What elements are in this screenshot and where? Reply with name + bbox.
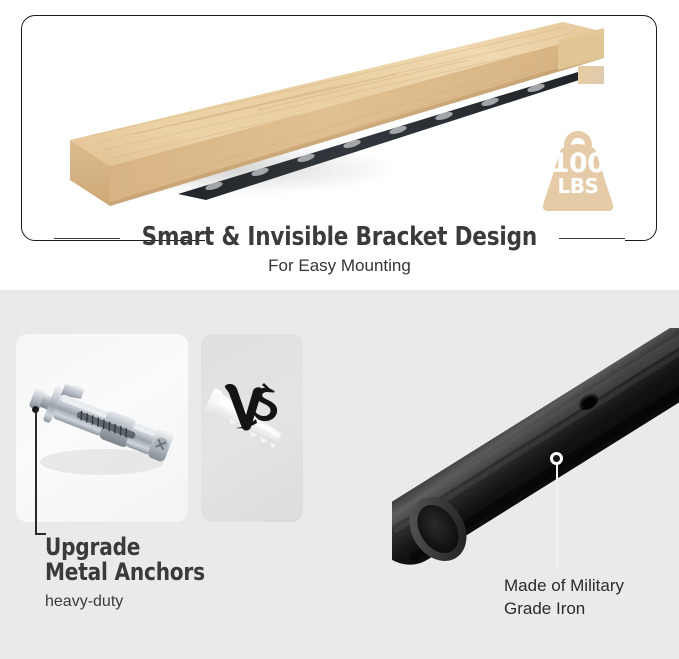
pipe-feature-caption: Made of Military Grade Iron — [504, 575, 624, 621]
bottom-feature-section: Upgrade Metal Anchors heavy-duty — [0, 290, 679, 659]
pipe-callout-line — [556, 464, 558, 568]
product-infographic: 100 LBS Smart & Invisible Bracket Design… — [0, 0, 679, 659]
vs-icon — [220, 375, 282, 437]
top-feature-section: 100 LBS Smart & Invisible Bracket Design… — [0, 0, 679, 290]
weight-capacity-badge: 100 LBS — [531, 129, 625, 215]
weight-icon — [531, 129, 625, 215]
headline-rule-left — [54, 238, 120, 239]
anchor-title-line-2: Metal Anchors — [45, 560, 205, 585]
anchor-feature-subtitle: heavy-duty — [45, 593, 123, 611]
pipe-callout-marker — [550, 452, 563, 465]
anchor-title-line-1: Upgrade — [45, 535, 205, 560]
iron-pipe-illustration — [392, 328, 679, 578]
anchor-feature-title: Upgrade Metal Anchors — [45, 535, 205, 586]
page-subtitle: For Easy Mounting — [0, 256, 679, 276]
headline-rule-right — [559, 238, 625, 239]
pipe-caption-line-1: Made of Military — [504, 575, 624, 598]
metal-anchor-illustration — [16, 334, 188, 522]
metal-anchor-panel — [16, 334, 188, 522]
iron-pipe-svg — [392, 328, 679, 578]
pipe-caption-line-2: Grade Iron — [504, 598, 624, 621]
headline-row: Smart & Invisible Bracket Design — [0, 219, 679, 255]
page-title: Smart & Invisible Bracket Design — [142, 222, 537, 252]
anchor-callout-line — [35, 412, 37, 534]
